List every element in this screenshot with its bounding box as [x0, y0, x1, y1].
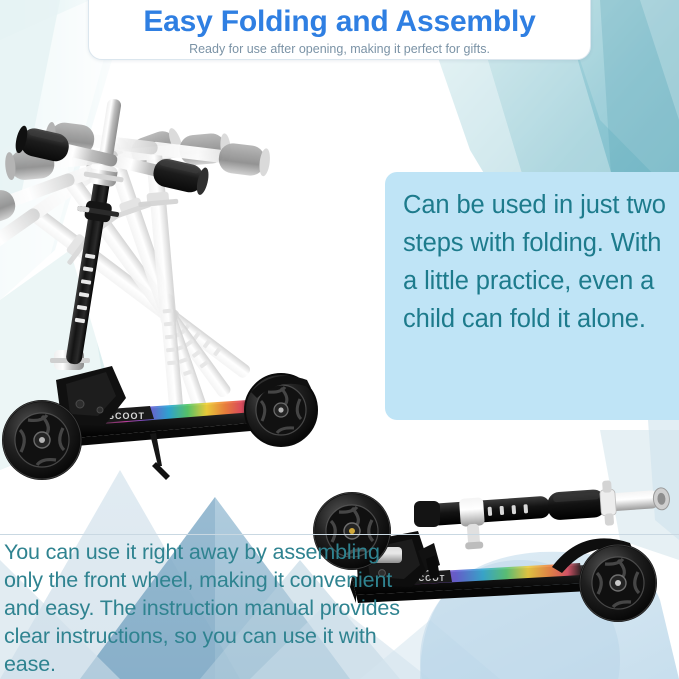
product-infographic: Easy Folding and Assembly Ready for use … — [0, 0, 679, 679]
page-title: Easy Folding and Assembly — [88, 4, 591, 40]
kick-scooter-folding-sequence-image: SCOOT — [0, 62, 360, 482]
callout-text: Can be used in just two steps with foldi… — [403, 186, 669, 338]
front-wheel — [3, 401, 81, 479]
bottom-paragraph: You can use it right away by assembling … — [4, 538, 400, 678]
callout-box: Can be used in just two steps with foldi… — [385, 172, 679, 420]
header: Easy Folding and Assembly Ready for use … — [88, 4, 591, 58]
bottom-divider — [0, 534, 679, 535]
page-subtitle: Ready for use after opening, making it p… — [88, 40, 591, 58]
folded-stem — [414, 476, 672, 552]
rear-wheel — [245, 374, 317, 446]
